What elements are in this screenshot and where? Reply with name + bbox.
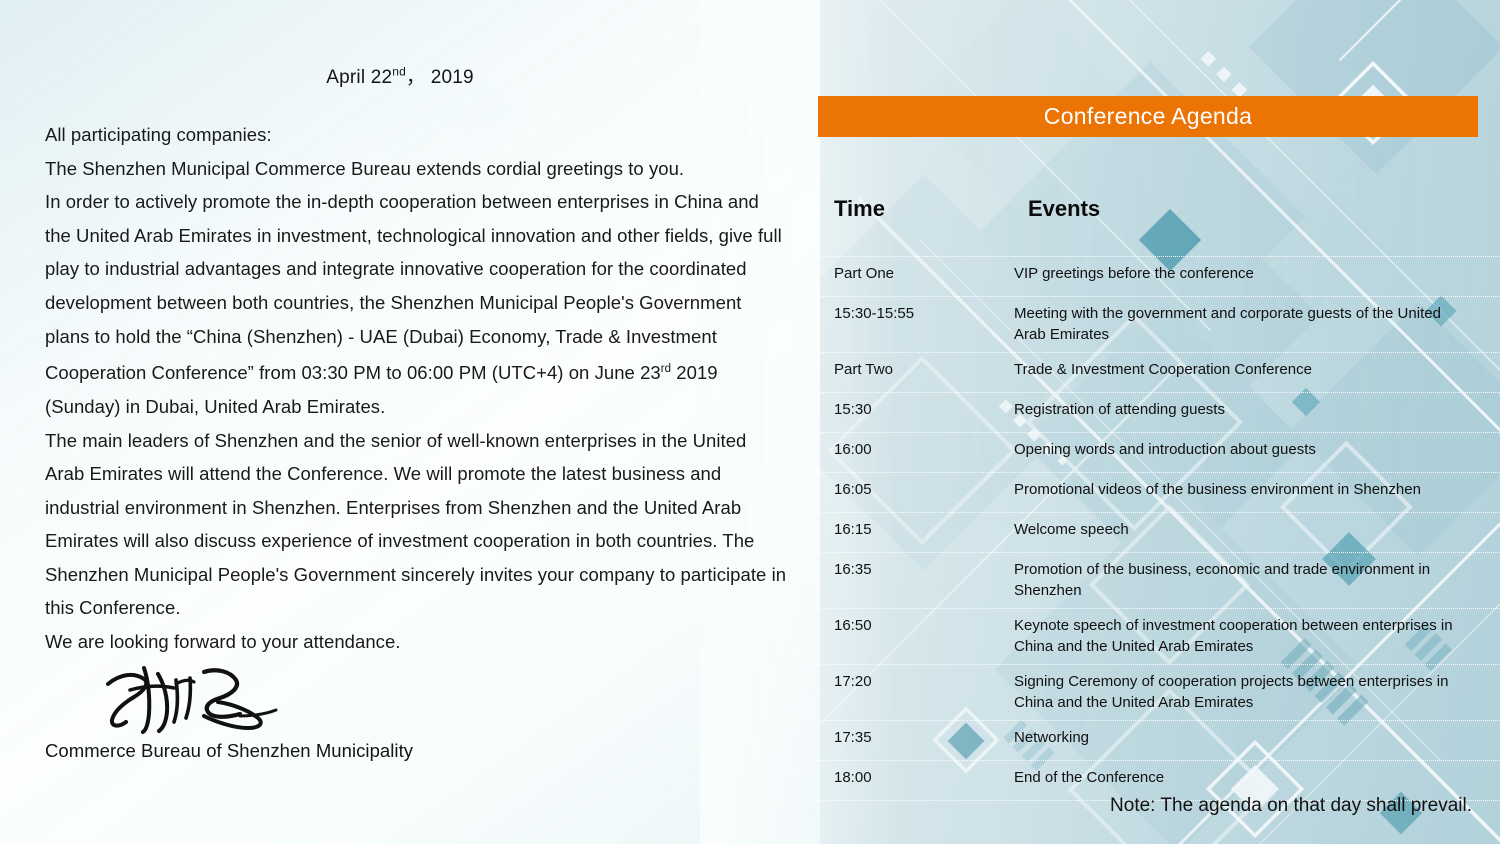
agenda-row: 15:30-15:55Meeting with the government a… bbox=[818, 296, 1500, 352]
letter-date-year: ， 2019 bbox=[406, 67, 474, 88]
agenda-panel: Conference Agenda Time Events Part OneVI… bbox=[818, 0, 1500, 844]
agenda-row-event: Registration of attending guests bbox=[1014, 400, 1500, 421]
letter-date-ordinal: nd bbox=[392, 65, 406, 79]
agenda-row: 15:30Registration of attending guests bbox=[818, 392, 1500, 432]
agenda-column-headers: Time Events bbox=[818, 196, 1478, 228]
agenda-row: 17:35Networking bbox=[818, 720, 1500, 760]
agenda-row-time: Part Two bbox=[818, 360, 1014, 381]
agenda-row: 16:50Keynote speech of investment cooper… bbox=[818, 608, 1500, 664]
agenda-row-time: 18:00 bbox=[818, 768, 1014, 789]
agenda-row-time: 16:00 bbox=[818, 440, 1014, 461]
agenda-row-event: Welcome speech bbox=[1014, 520, 1500, 541]
letter-panel: April 22nd， 2019 All participating compa… bbox=[0, 0, 800, 844]
agenda-row: 16:00Opening words and introduction abou… bbox=[818, 432, 1500, 472]
agenda-row-event: Promotional videos of the business envir… bbox=[1014, 480, 1500, 501]
agenda-row-event: VIP greetings before the conference bbox=[1014, 264, 1500, 285]
letter-body: All participating companies: The Shenzhe… bbox=[45, 118, 787, 659]
signature-caption: Commerce Bureau of Shenzhen Municipality bbox=[45, 740, 413, 762]
agenda-row-event: Signing Ceremony of cooperation projects… bbox=[1014, 672, 1500, 713]
handwritten-signature-icon bbox=[100, 658, 290, 738]
agenda-table: Part OneVIP greetings before the confere… bbox=[818, 256, 1500, 801]
agenda-row: Part TwoTrade & Investment Cooperation C… bbox=[818, 352, 1500, 392]
agenda-row: Part OneVIP greetings before the confere… bbox=[818, 256, 1500, 296]
letter-paragraph-2-ordinal: rd bbox=[661, 363, 671, 375]
agenda-row-event: Meeting with the government and corporat… bbox=[1014, 304, 1500, 345]
letter-salutation: All participating companies: bbox=[45, 118, 787, 152]
column-header-time: Time bbox=[834, 196, 885, 222]
letter-paragraph-2-part1: In order to actively promote the in-dept… bbox=[45, 191, 782, 383]
agenda-row-event: Trade & Investment Cooperation Conferenc… bbox=[1014, 360, 1500, 381]
agenda-row-event: Promotion of the business, economic and … bbox=[1014, 560, 1500, 601]
invitation-slide: April 22nd， 2019 All participating compa… bbox=[0, 0, 1500, 844]
agenda-row-time: 16:50 bbox=[818, 616, 1014, 637]
agenda-row-time: 15:30 bbox=[818, 400, 1014, 421]
signature-block bbox=[45, 662, 465, 746]
agenda-row: 16:05Promotional videos of the business … bbox=[818, 472, 1500, 512]
agenda-banner-title: Conference Agenda bbox=[1044, 103, 1252, 130]
letter-paragraph-4: We are looking forward to your attendanc… bbox=[45, 625, 787, 659]
agenda-row: 17:20Signing Ceremony of cooperation pro… bbox=[818, 664, 1500, 720]
agenda-row-event: Opening words and introduction about gue… bbox=[1014, 440, 1500, 461]
letter-paragraph-1: The Shenzhen Municipal Commerce Bureau e… bbox=[45, 152, 787, 186]
letter-paragraph-2: In order to actively promote the in-dept… bbox=[45, 185, 787, 423]
agenda-row-event: Keynote speech of investment cooperation… bbox=[1014, 616, 1500, 657]
agenda-row-time: Part One bbox=[818, 264, 1014, 285]
column-header-events: Events bbox=[1028, 196, 1100, 222]
agenda-row-event: End of the Conference bbox=[1014, 768, 1500, 789]
agenda-row-time: 15:30-15:55 bbox=[818, 304, 1014, 325]
agenda-row-time: 17:35 bbox=[818, 728, 1014, 749]
agenda-row: 16:15Welcome speech bbox=[818, 512, 1500, 552]
agenda-row: 16:35Promotion of the business, economic… bbox=[818, 552, 1500, 608]
agenda-banner: Conference Agenda bbox=[818, 96, 1478, 137]
agenda-note: Note: The agenda on that day shall preva… bbox=[818, 795, 1478, 817]
letter-paragraph-3: The main leaders of Shenzhen and the sen… bbox=[45, 424, 787, 626]
agenda-row-time: 16:35 bbox=[818, 560, 1014, 581]
agenda-row-event: Networking bbox=[1014, 728, 1500, 749]
agenda-row-time: 16:05 bbox=[818, 480, 1014, 501]
agenda-row-time: 16:15 bbox=[818, 520, 1014, 541]
letter-date: April 22nd， 2019 bbox=[0, 62, 800, 89]
agenda-row-time: 17:20 bbox=[818, 672, 1014, 693]
letter-date-main: April 22 bbox=[326, 67, 392, 88]
